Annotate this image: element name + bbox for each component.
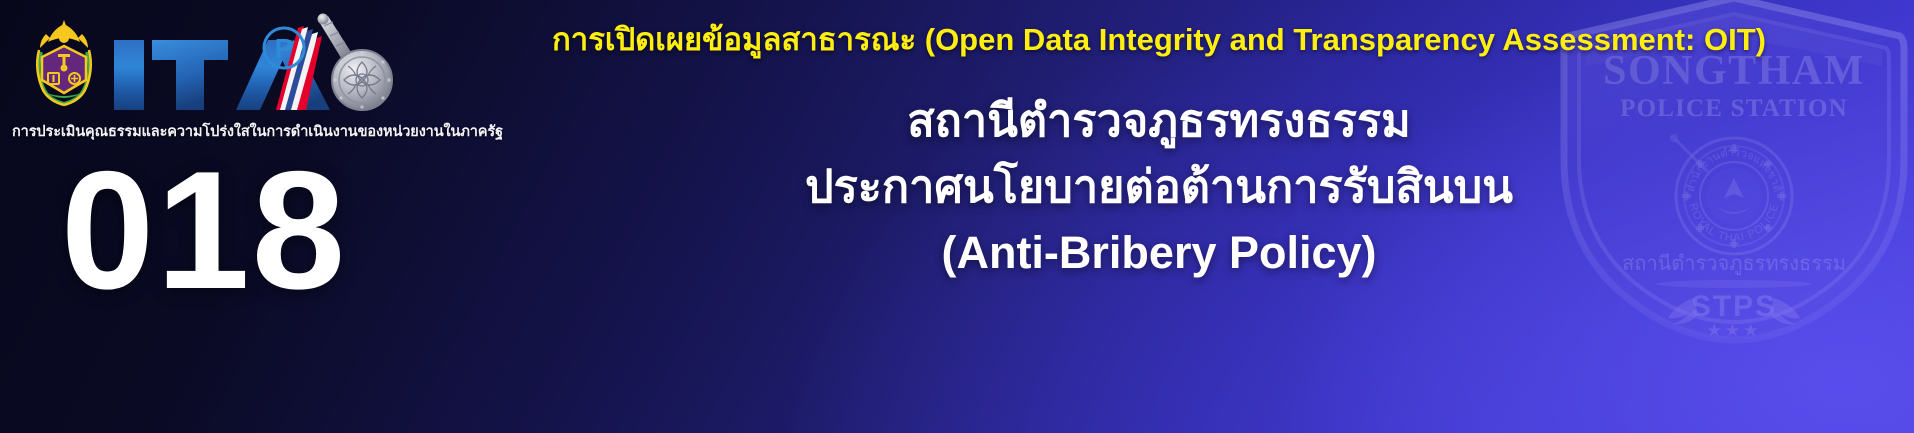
ita-logo-block: P (12, 8, 404, 140)
oit-title: การเปิดเผยข้อมูลสาธารณะ (Open Data Integ… (404, 22, 1914, 59)
p-badge-letter: P (275, 33, 294, 64)
watermark-stars: ★★★ (1707, 321, 1762, 341)
oit-banner: SONGTHAM POLICE STATION (0, 0, 1914, 433)
p-badge-icon: P (262, 26, 306, 70)
laurel-branches (1668, 298, 1800, 324)
heading-group: สถานีตำรวจภูธรทรงธรรม ประกาศนโยบายต่อต้า… (404, 88, 1914, 286)
item-number: 018 (34, 146, 374, 314)
heading-line-3: (Anti-Bribery Policy) (404, 220, 1914, 286)
thai-ceremonial-mace-emblem (308, 14, 394, 114)
heading-line-2: ประกาศนโยบายต่อต้านการรับสินบน (404, 154, 1914, 220)
watermark-abbreviation: STPS (1691, 290, 1777, 323)
heading-line-1: สถานีตำรวจภูธรทรงธรรม (404, 88, 1914, 154)
thai-ministry-garuda-emblem (28, 18, 100, 110)
